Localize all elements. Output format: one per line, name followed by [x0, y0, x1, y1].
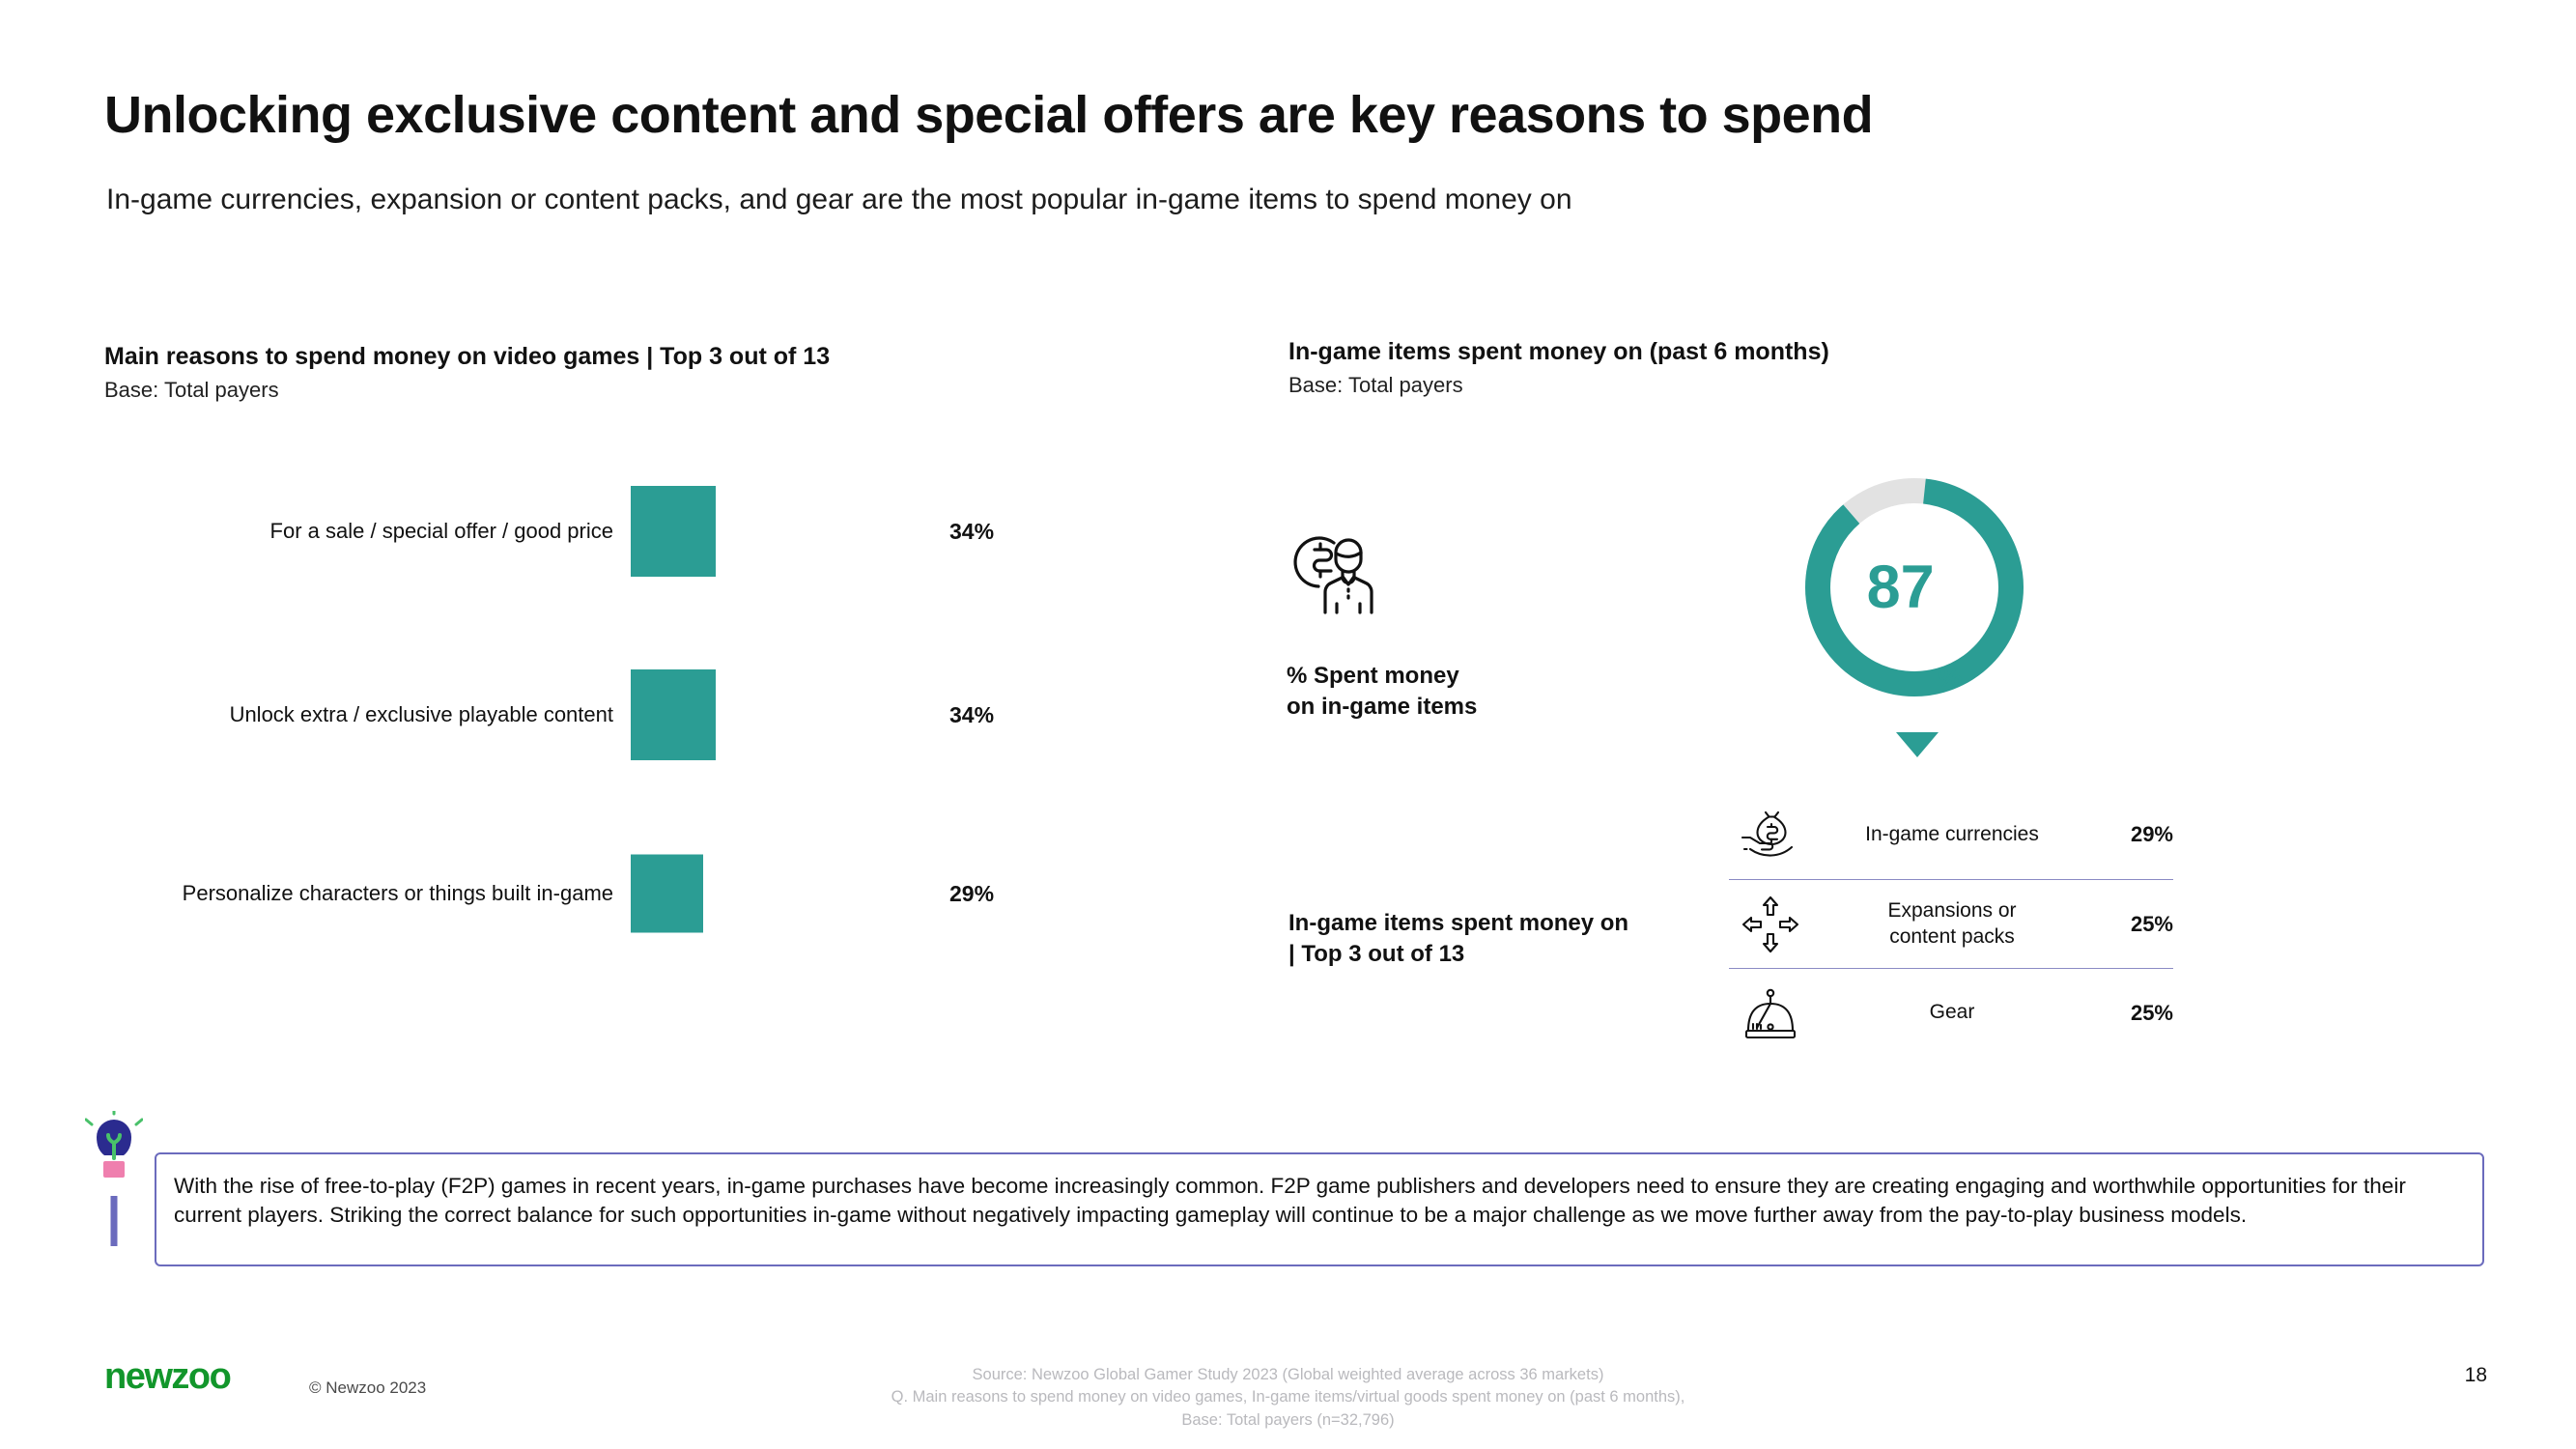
left-panel-title: Main reasons to spend money on video gam… — [104, 343, 830, 371]
bar-value: 34% — [949, 702, 994, 728]
item-label: Gear — [1812, 1000, 2092, 1026]
spent-money-donut-chart: 87 % — [1798, 471, 2030, 703]
item-label-line1: Expansions or — [1818, 898, 2086, 924]
callout-text: With the rise of free-to-play (F2P) game… — [174, 1172, 2465, 1229]
four-way-arrows-icon — [1729, 895, 1812, 954]
page-subtitle: In-game currencies, expansion or content… — [106, 184, 1572, 216]
list-item: Expansions or content packs 25% — [1729, 879, 2173, 968]
spend-money-caption: % Spent money on in-game items — [1287, 661, 1605, 724]
person-with-dollar-coin-icon — [1287, 611, 1391, 627]
bar-value: 29% — [949, 881, 994, 907]
source-line-2: Q. Main reasons to spend money on video … — [0, 1386, 2576, 1408]
bar-label: For a sale / special offer / good price — [104, 519, 631, 544]
bar-label: Personalize characters or things built i… — [104, 881, 631, 906]
bar-track — [631, 647, 949, 782]
bar-fill — [631, 669, 716, 760]
bar-fill — [631, 855, 703, 933]
bar-value: 34% — [949, 519, 994, 545]
bar-track — [631, 826, 949, 961]
donut-center-label: 87 % — [1798, 471, 2030, 703]
bar-fill — [631, 486, 716, 577]
item-value: 25% — [2092, 912, 2173, 937]
table-row: Personalize characters or things built i… — [104, 826, 1147, 961]
callout-box: With the rise of free-to-play (F2P) game… — [155, 1152, 2484, 1266]
page-number: 18 — [2465, 1364, 2487, 1387]
left-panel-header: Main reasons to spend money on video gam… — [104, 343, 830, 403]
top-items-list: In-game currencies 29% Expansions or con… — [1729, 790, 2173, 1057]
reasons-bar-chart: For a sale / special offer / good price … — [104, 464, 1147, 966]
item-label: Expansions or content packs — [1812, 898, 2092, 951]
donut-value: 87 — [1867, 557, 1935, 618]
bar-label: Unlock extra / exclusive playable conten… — [104, 702, 631, 727]
item-value: 29% — [2092, 822, 2173, 847]
spend-caption-line2: on in-game items — [1287, 692, 1605, 723]
money-bag-in-hand-icon — [1729, 807, 1812, 863]
items-caption-line2: | Top 3 out of 13 — [1288, 939, 1675, 970]
spend-caption-line1: % Spent money — [1287, 661, 1605, 692]
list-item: In-game currencies 29% — [1729, 790, 2173, 879]
down-triangle-icon — [1896, 732, 1939, 757]
left-panel-base: Base: Total payers — [104, 378, 830, 403]
donut-unit: % — [1938, 663, 1963, 695]
items-caption: In-game items spent money on | Top 3 out… — [1288, 908, 1675, 971]
item-label-line2: content packs — [1818, 924, 2086, 951]
item-label: In-game currencies — [1812, 822, 2092, 848]
table-row: Unlock extra / exclusive playable conten… — [104, 647, 1147, 782]
footer-source: Source: Newzoo Global Gamer Study 2023 (… — [0, 1364, 2576, 1432]
right-panel-base: Base: Total payers — [1288, 373, 1829, 398]
right-panel-title: In-game items spent money on (past 6 mon… — [1288, 338, 1829, 366]
helmet-icon — [1729, 985, 1812, 1041]
items-caption-line1: In-game items spent money on — [1288, 908, 1675, 939]
lightbulb-icon — [85, 1111, 143, 1246]
list-item: Gear 25% — [1729, 968, 2173, 1057]
source-line-1: Source: Newzoo Global Gamer Study 2023 (… — [0, 1364, 2576, 1386]
source-line-3: Base: Total payers (n=32,796) — [0, 1409, 2576, 1432]
spend-money-block: % Spent money on in-game items — [1287, 526, 1605, 724]
right-panel-header: In-game items spent money on (past 6 mon… — [1288, 338, 1829, 398]
page-title: Unlocking exclusive content and special … — [104, 85, 1873, 145]
item-value: 25% — [2092, 1001, 2173, 1026]
table-row: For a sale / special offer / good price … — [104, 464, 1147, 599]
bar-track — [631, 464, 949, 599]
